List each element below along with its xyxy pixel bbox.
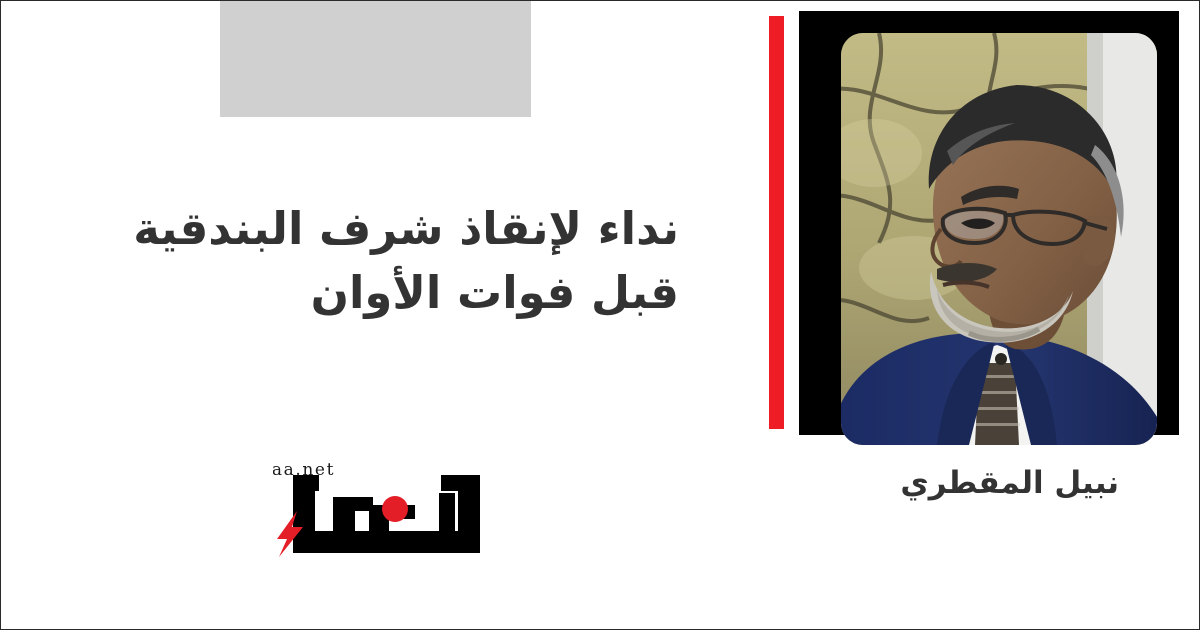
red-accent-bar — [769, 16, 784, 429]
site-logo[interactable]: alndaa.net — [273, 453, 488, 558]
article-share-card: نداء لإنقاذ شرف البندقية قبل فوات الأوان — [0, 0, 1200, 630]
photo-black-frame — [799, 11, 1179, 435]
author-photo — [841, 33, 1157, 445]
grey-decor-block — [220, 1, 531, 117]
red-dot-icon — [382, 496, 408, 522]
alndaa-logo-svg: alndaa.net — [273, 453, 488, 558]
author-photo-panel — [769, 1, 1200, 453]
article-headline: نداء لإنقاذ شرف البندقية قبل فوات الأوان — [119, 197, 679, 325]
author-photo-illustration — [841, 33, 1157, 445]
headline-line-1: نداء لإنقاذ شرف البندقية — [119, 197, 679, 261]
logo-url-text: alndaa.net — [273, 460, 335, 480]
headline-line-2: قبل فوات الأوان — [119, 261, 679, 325]
author-name: نبيل المقطري — [779, 463, 1119, 503]
